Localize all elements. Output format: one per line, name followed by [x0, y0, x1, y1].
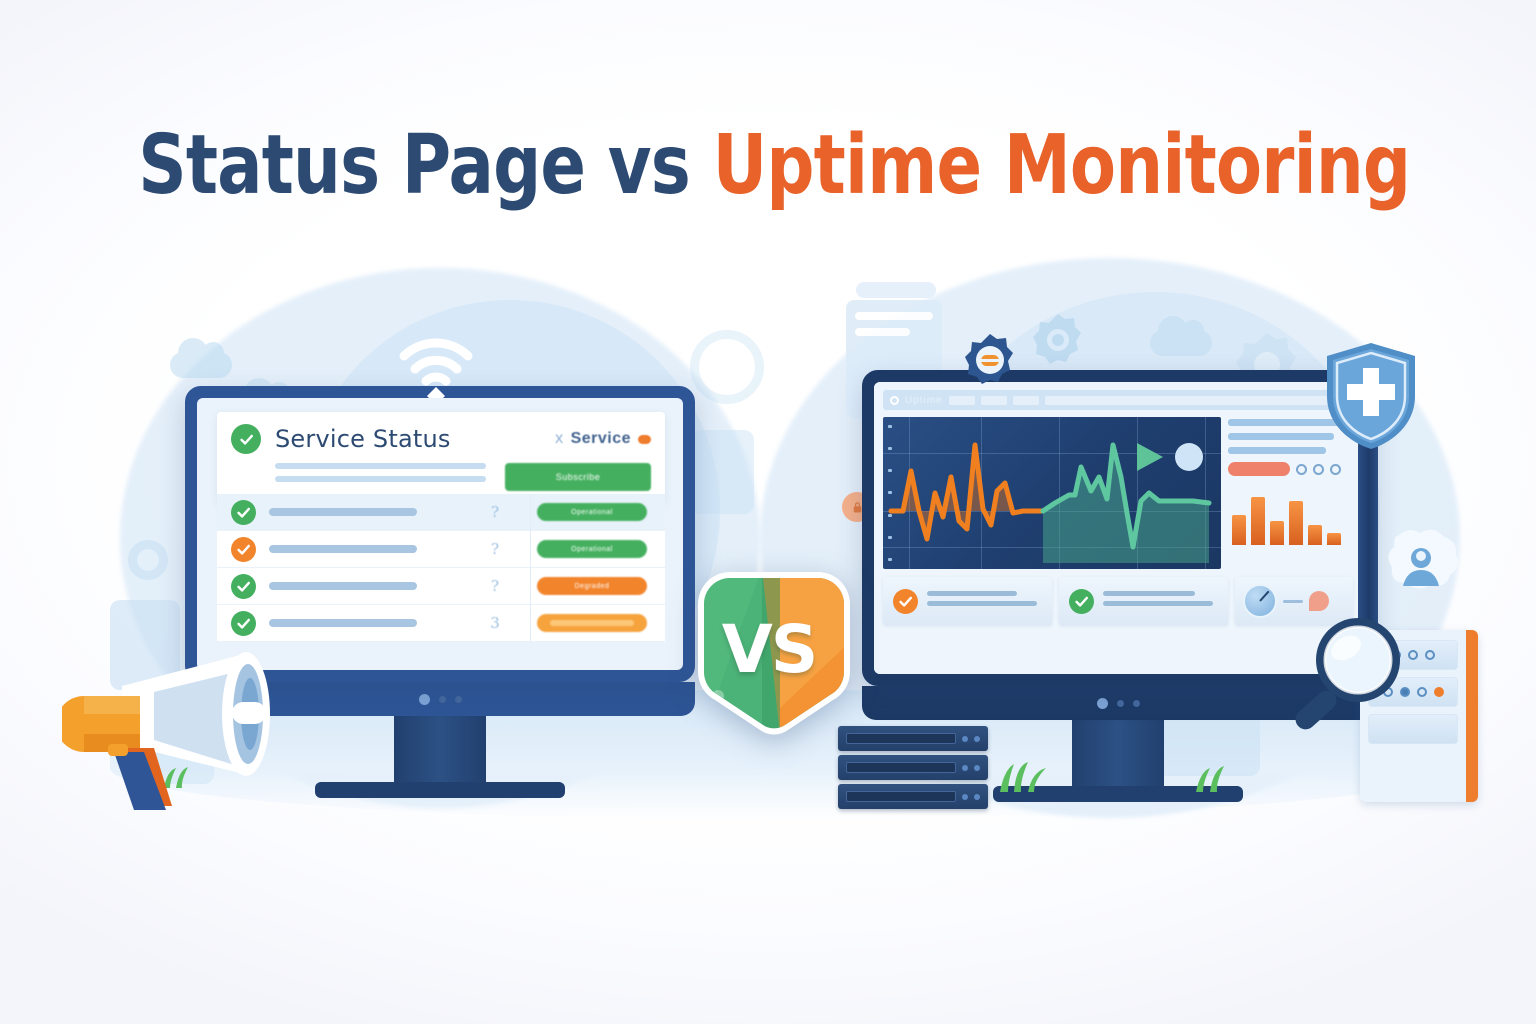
megaphone-icon [62, 618, 332, 818]
play-triangle-icon [1137, 443, 1163, 471]
title-part-navy: Status Page vs [138, 118, 712, 213]
grass-decoration-icon [990, 752, 1060, 792]
page-title: Status Page vs Uptime Monitoring [0, 118, 1536, 213]
ring-icon [1296, 464, 1307, 475]
monitor-dot-icon [1117, 700, 1124, 707]
status-badge: Operational [537, 503, 647, 521]
monitor-dot-icon [1133, 700, 1140, 707]
magnifier-icon [1288, 612, 1408, 740]
alert-row [1228, 462, 1353, 476]
status-page-title: Service Status [275, 425, 451, 453]
background-pill-decoration [856, 282, 936, 298]
row-value: ? [460, 577, 530, 595]
table-row[interactable]: ? Operational [217, 531, 665, 568]
check-circle-icon [893, 589, 918, 614]
check-circle-icon [231, 500, 256, 525]
list-item[interactable] [1059, 577, 1228, 625]
check-circle-icon [1069, 589, 1094, 614]
cloud-decoration-icon [170, 352, 232, 378]
power-indicator-icon [1097, 698, 1108, 709]
row-label-skeleton [269, 582, 417, 590]
connector-line [1283, 600, 1303, 603]
shield-cross-icon [1323, 340, 1419, 452]
chart-series-svg [883, 417, 1221, 569]
status-badge [537, 614, 647, 632]
brand-x-mark: x [555, 430, 564, 448]
check-circle-icon [231, 537, 256, 562]
status-badge: Operational [537, 540, 647, 558]
monitor-dot-icon [439, 696, 446, 703]
brand-dot-icon [638, 435, 651, 444]
gear-decoration-icon [128, 540, 168, 580]
row-value: ? [460, 540, 530, 558]
table-row[interactable]: ? Operational [217, 494, 665, 531]
power-indicator-icon [419, 694, 430, 705]
table-row[interactable]: ? Degraded [217, 568, 665, 605]
server-unit [838, 784, 988, 809]
server-stack-icon [838, 726, 988, 814]
monitor-dot-icon [455, 696, 462, 703]
gear-badge-icon [962, 332, 1018, 388]
row-label-skeleton [269, 545, 417, 553]
check-circle-icon [231, 574, 256, 599]
dashboard-status-cards [883, 577, 1353, 625]
row-value: 3 [460, 614, 530, 632]
status-page-header-card: Service Status x Service Subscribe [217, 412, 665, 505]
vs-label: VS [684, 568, 854, 736]
server-unit [838, 726, 988, 751]
speed-gauge-icon [1243, 584, 1277, 618]
status-badge: Degraded [537, 577, 647, 595]
ring-icon [1330, 464, 1341, 475]
monitor-neck [1072, 720, 1164, 786]
brand-name: Service [571, 430, 631, 448]
chart-endpoint-dot [1175, 443, 1203, 471]
check-circle-icon [231, 424, 261, 454]
monitor-neck [394, 716, 486, 782]
avatar-icon [1378, 528, 1464, 602]
alert-bar [1228, 462, 1290, 476]
status-page-brand: x Service [555, 430, 651, 448]
ring-icon [1313, 464, 1324, 475]
row-value: ? [460, 503, 530, 521]
wifi-icon [398, 338, 474, 398]
square-decoration-icon [690, 430, 754, 514]
phone-icon [1309, 591, 1329, 611]
list-item[interactable] [883, 577, 1052, 625]
gear-decoration-icon [690, 330, 764, 404]
dashboard-topbar-label: Uptime [905, 395, 943, 406]
monitor-base [315, 782, 565, 798]
response-time-chart [883, 417, 1221, 569]
grass-decoration-icon [1188, 756, 1258, 792]
dashboard-topbar: Uptime [883, 390, 1353, 410]
vs-badge: VS [684, 568, 854, 736]
gear-decoration-icon [1030, 312, 1086, 368]
cloud-decoration-icon [1150, 330, 1212, 356]
row-label-skeleton [269, 508, 417, 516]
server-unit [838, 755, 988, 780]
circle-icon [890, 396, 899, 405]
status-page-subtext-skeleton [275, 463, 493, 489]
side-bar-chart [1228, 487, 1353, 545]
title-part-orange: Uptime Monitoring [713, 118, 1411, 213]
subscribe-button[interactable]: Subscribe [505, 463, 651, 491]
